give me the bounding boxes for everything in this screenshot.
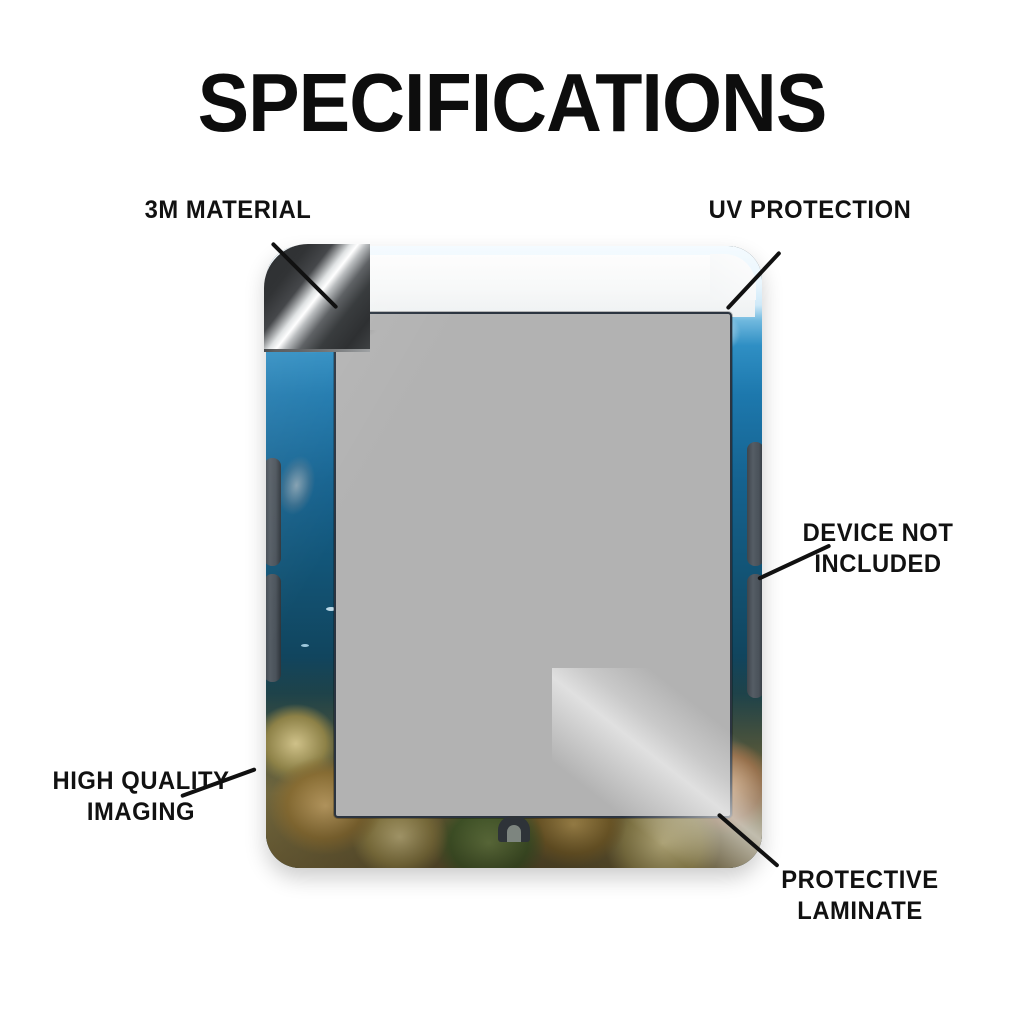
callout-label-device-not-included: DEVICE NOT INCLUDED <box>766 518 990 580</box>
left-page-button-down[interactable] <box>266 574 281 682</box>
callout-label-protective-laminate: PROTECTIVE LAMINATE <box>746 865 974 927</box>
right-page-button-up[interactable] <box>747 442 762 566</box>
nook-logo-icon[interactable] <box>498 816 530 842</box>
device-bezel-top <box>331 255 755 317</box>
page-title: SPECIFICATIONS <box>36 55 988 150</box>
callout-label-high-quality-imaging: HIGH QUALITY IMAGING <box>15 766 268 828</box>
device-mockup <box>266 246 762 868</box>
right-page-button-down[interactable] <box>747 574 762 698</box>
callout-label-3m-material: 3M MATERIAL <box>95 195 361 226</box>
device-screen <box>334 312 732 818</box>
left-page-button-up[interactable] <box>266 458 281 566</box>
callout-label-uv-protection: UV PROTECTION <box>653 195 967 226</box>
infographic-canvas: SPECIFICATIONS <box>0 0 1024 1024</box>
